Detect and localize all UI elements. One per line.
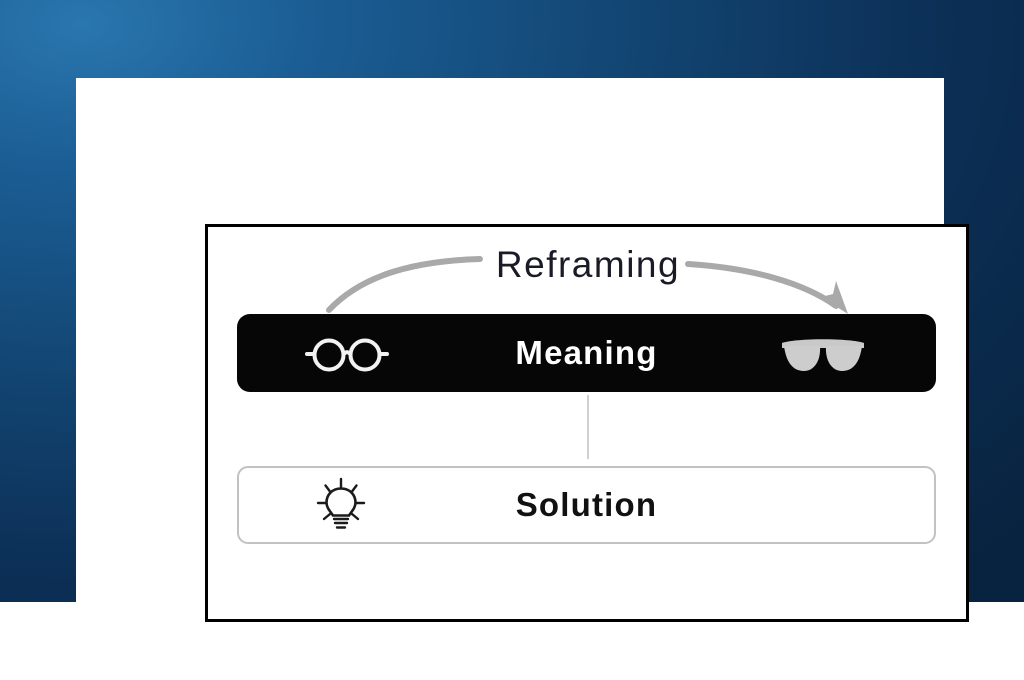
meaning-row[interactable]: Meaning [237, 314, 936, 392]
solution-row[interactable]: Solution [237, 466, 936, 544]
slide-canvas: Reframing Meaning [0, 0, 1024, 602]
reframing-label: Reframing [76, 246, 1024, 283]
sunglasses-icon [778, 330, 868, 378]
solution-label: Solution [239, 468, 934, 542]
slide-panel: Reframing Meaning [76, 78, 944, 602]
connector-line [587, 395, 589, 459]
